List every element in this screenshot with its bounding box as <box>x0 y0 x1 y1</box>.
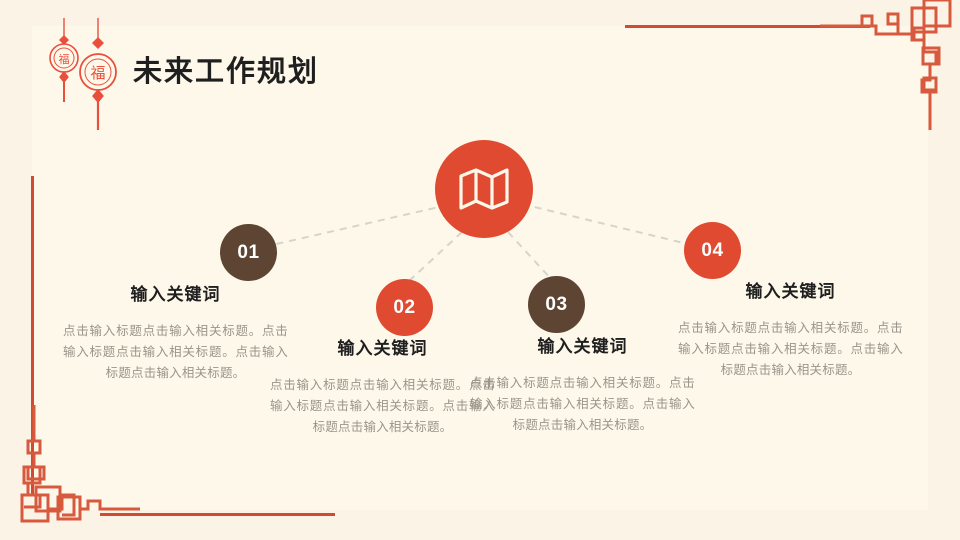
column-body: 点击输入标题点击输入相关标题。点击输入标题点击输入相关标题。点击输入标题点击输入… <box>678 318 903 381</box>
content-column-2: 输入关键词 点击输入标题点击输入相关标题。点击输入标题点击输入相关标题。点击输入… <box>270 337 495 438</box>
step-number: 04 <box>701 240 723 262</box>
content-column-1: 输入关键词 点击输入标题点击输入相关标题。点击输入标题点击输入相关标题。点击输入… <box>63 283 288 384</box>
step-node-04[interactable]: 04 <box>684 222 741 279</box>
column-heading: 输入关键词 <box>678 280 903 304</box>
column-heading: 输入关键词 <box>270 337 495 361</box>
hub-node[interactable] <box>435 140 533 238</box>
column-heading: 输入关键词 <box>63 283 288 307</box>
content-column-3: 输入关键词 点击输入标题点击输入相关标题。点击输入标题点击输入相关标题。点击输入… <box>470 335 695 436</box>
column-heading: 输入关键词 <box>470 335 695 359</box>
step-node-02[interactable]: 02 <box>376 279 433 336</box>
step-number: 01 <box>237 242 259 264</box>
step-node-03[interactable]: 03 <box>528 276 585 333</box>
column-body: 点击输入标题点击输入相关标题。点击输入标题点击输入相关标题。点击输入标题点击输入… <box>63 321 288 384</box>
process-diagram: 01 02 03 04 输入关键词 点击输入标题点击输入相关标题。点击输入标题点… <box>0 0 960 540</box>
column-body: 点击输入标题点击输入相关标题。点击输入标题点击输入相关标题。点击输入标题点击输入… <box>270 375 495 438</box>
connector-lines <box>0 0 960 540</box>
content-column-4: 输入关键词 点击输入标题点击输入相关标题。点击输入标题点击输入相关标题。点击输入… <box>678 280 903 381</box>
map-icon <box>458 166 510 212</box>
step-node-01[interactable]: 01 <box>220 224 277 281</box>
step-number: 02 <box>393 297 415 319</box>
slide-canvas: 福 福 未来工作规划 <box>0 0 960 540</box>
step-number: 03 <box>545 294 567 316</box>
column-body: 点击输入标题点击输入相关标题。点击输入标题点击输入相关标题。点击输入标题点击输入… <box>470 373 695 436</box>
